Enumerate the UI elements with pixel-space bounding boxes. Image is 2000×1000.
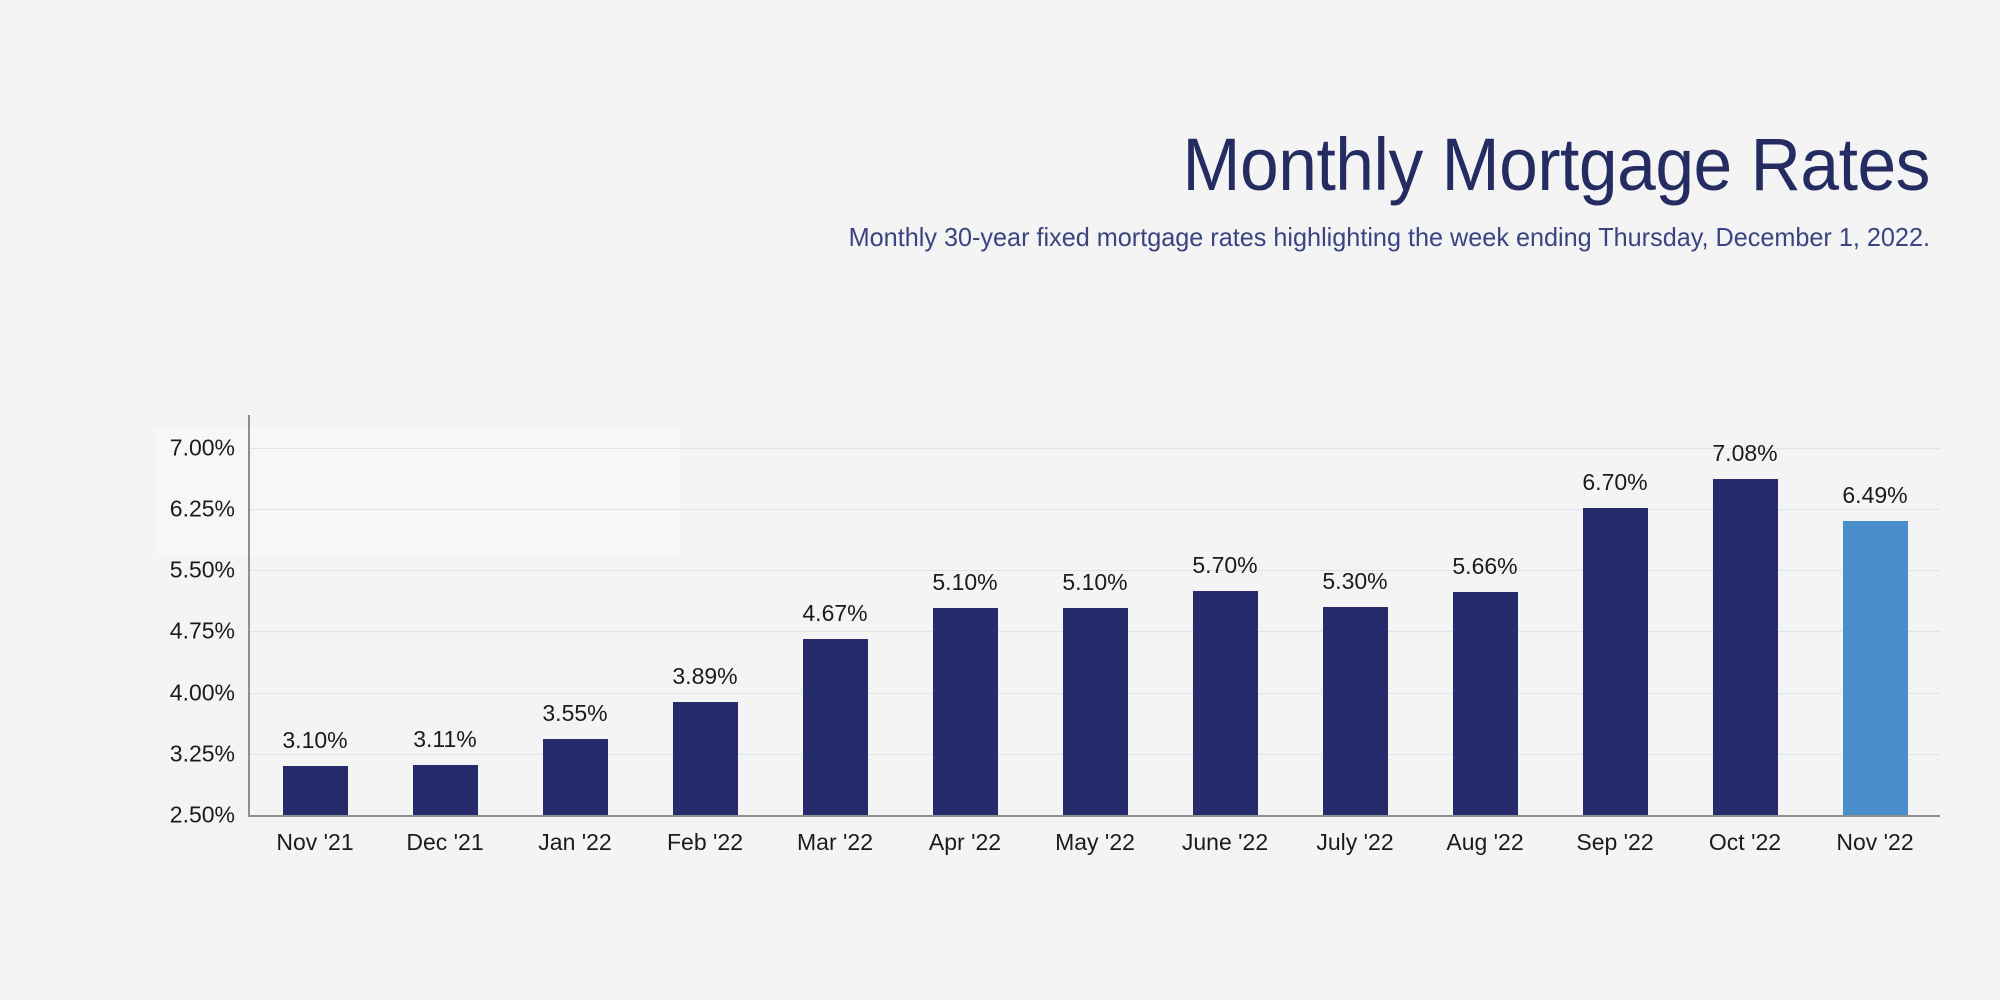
chart-header: Monthly Mortgage Rates Monthly 30-year f…	[0, 0, 2000, 253]
y-axis-tick-label: 2.50%	[155, 802, 235, 829]
x-axis-tick-label: Oct '22	[1709, 829, 1781, 856]
bar[interactable]	[413, 765, 478, 815]
x-axis-tick-label: May '22	[1055, 829, 1135, 856]
y-axis-tick-label: 7.00%	[155, 434, 235, 461]
bar-value-label: 6.70%	[1582, 469, 1647, 496]
bar[interactable]	[1453, 592, 1518, 815]
y-axis: 7.00%6.25%5.50%4.75%4.00%3.25%2.50%	[155, 425, 235, 815]
bar[interactable]	[933, 608, 998, 815]
x-axis-tick-label: Aug '22	[1446, 829, 1523, 856]
bar[interactable]	[1713, 479, 1778, 815]
x-axis-tick-label: July '22	[1316, 829, 1393, 856]
bar-group[interactable]: 3.11%	[413, 415, 478, 815]
bar[interactable]	[803, 639, 868, 815]
x-axis-line	[248, 815, 1940, 817]
x-axis-tick-label: Feb '22	[667, 829, 743, 856]
bar-value-label: 5.70%	[1192, 552, 1257, 579]
bar-value-label: 3.11%	[413, 726, 477, 753]
x-axis-tick-label: Jan '22	[538, 829, 611, 856]
bar-group[interactable]: 3.55%	[543, 415, 608, 815]
bar-value-label: 3.55%	[542, 700, 607, 727]
bar-value-label: 6.49%	[1842, 482, 1907, 509]
bar-value-label: 3.89%	[672, 663, 737, 690]
x-axis-tick-label: Mar '22	[797, 829, 873, 856]
bar-value-label: 5.66%	[1452, 553, 1517, 580]
bar-highlighted[interactable]	[1843, 521, 1908, 815]
page-subtitle: Monthly 30-year fixed mortgage rates hig…	[58, 222, 1930, 253]
bar-group[interactable]: 3.10%	[283, 415, 348, 815]
x-axis-tick-label: Apr '22	[929, 829, 1001, 856]
bar[interactable]	[1323, 607, 1388, 815]
bar-value-label: 5.30%	[1322, 568, 1387, 595]
bar-group[interactable]: 6.70%	[1583, 415, 1648, 815]
x-axis-tick-label: Nov '21	[276, 829, 353, 856]
x-axis-tick-label: Nov '22	[1836, 829, 1913, 856]
bar[interactable]	[1583, 508, 1648, 815]
y-axis-tick-label: 4.75%	[155, 618, 235, 645]
y-axis-tick-label: 4.00%	[155, 679, 235, 706]
bar-group[interactable]: 6.49%	[1843, 415, 1908, 815]
bar[interactable]	[283, 766, 348, 815]
x-axis: Nov '21Dec '21Jan '22Feb '22Mar '22Apr '…	[250, 829, 1940, 869]
bar[interactable]	[1193, 591, 1258, 815]
bar-value-label: 5.10%	[932, 569, 997, 596]
y-axis-tick-label: 3.25%	[155, 740, 235, 767]
y-axis-tick-label: 6.25%	[155, 495, 235, 522]
y-axis-tick-label: 5.50%	[155, 557, 235, 584]
bar-value-label: 3.10%	[282, 727, 347, 754]
bar[interactable]	[543, 739, 608, 815]
bar-group[interactable]: 3.89%	[673, 415, 738, 815]
plot-area: 3.10%3.11%3.55%3.89%4.67%5.10%5.10%5.70%…	[248, 415, 1940, 815]
bar-chart: 7.00%6.25%5.50%4.75%4.00%3.25%2.50% 3.10…	[155, 425, 1945, 815]
x-axis-tick-label: June '22	[1182, 829, 1268, 856]
x-axis-tick-label: Sep '22	[1576, 829, 1653, 856]
bar-group[interactable]: 7.08%	[1713, 415, 1778, 815]
bar-value-label: 7.08%	[1712, 440, 1777, 467]
x-axis-tick-label: Dec '21	[406, 829, 483, 856]
page-title: Monthly Mortgage Rates	[116, 128, 1930, 202]
bar-group[interactable]: 4.67%	[803, 415, 868, 815]
bar-group[interactable]: 5.10%	[933, 415, 998, 815]
bar-group[interactable]: 5.10%	[1063, 415, 1128, 815]
bar-value-label: 4.67%	[802, 600, 867, 627]
bar-group[interactable]: 5.30%	[1323, 415, 1388, 815]
bar-value-label: 5.10%	[1062, 569, 1127, 596]
bar[interactable]	[673, 702, 738, 815]
bar-group[interactable]: 5.66%	[1453, 415, 1518, 815]
bars-layer: 3.10%3.11%3.55%3.89%4.67%5.10%5.10%5.70%…	[250, 415, 1940, 815]
bar-group[interactable]: 5.70%	[1193, 415, 1258, 815]
bar[interactable]	[1063, 608, 1128, 815]
